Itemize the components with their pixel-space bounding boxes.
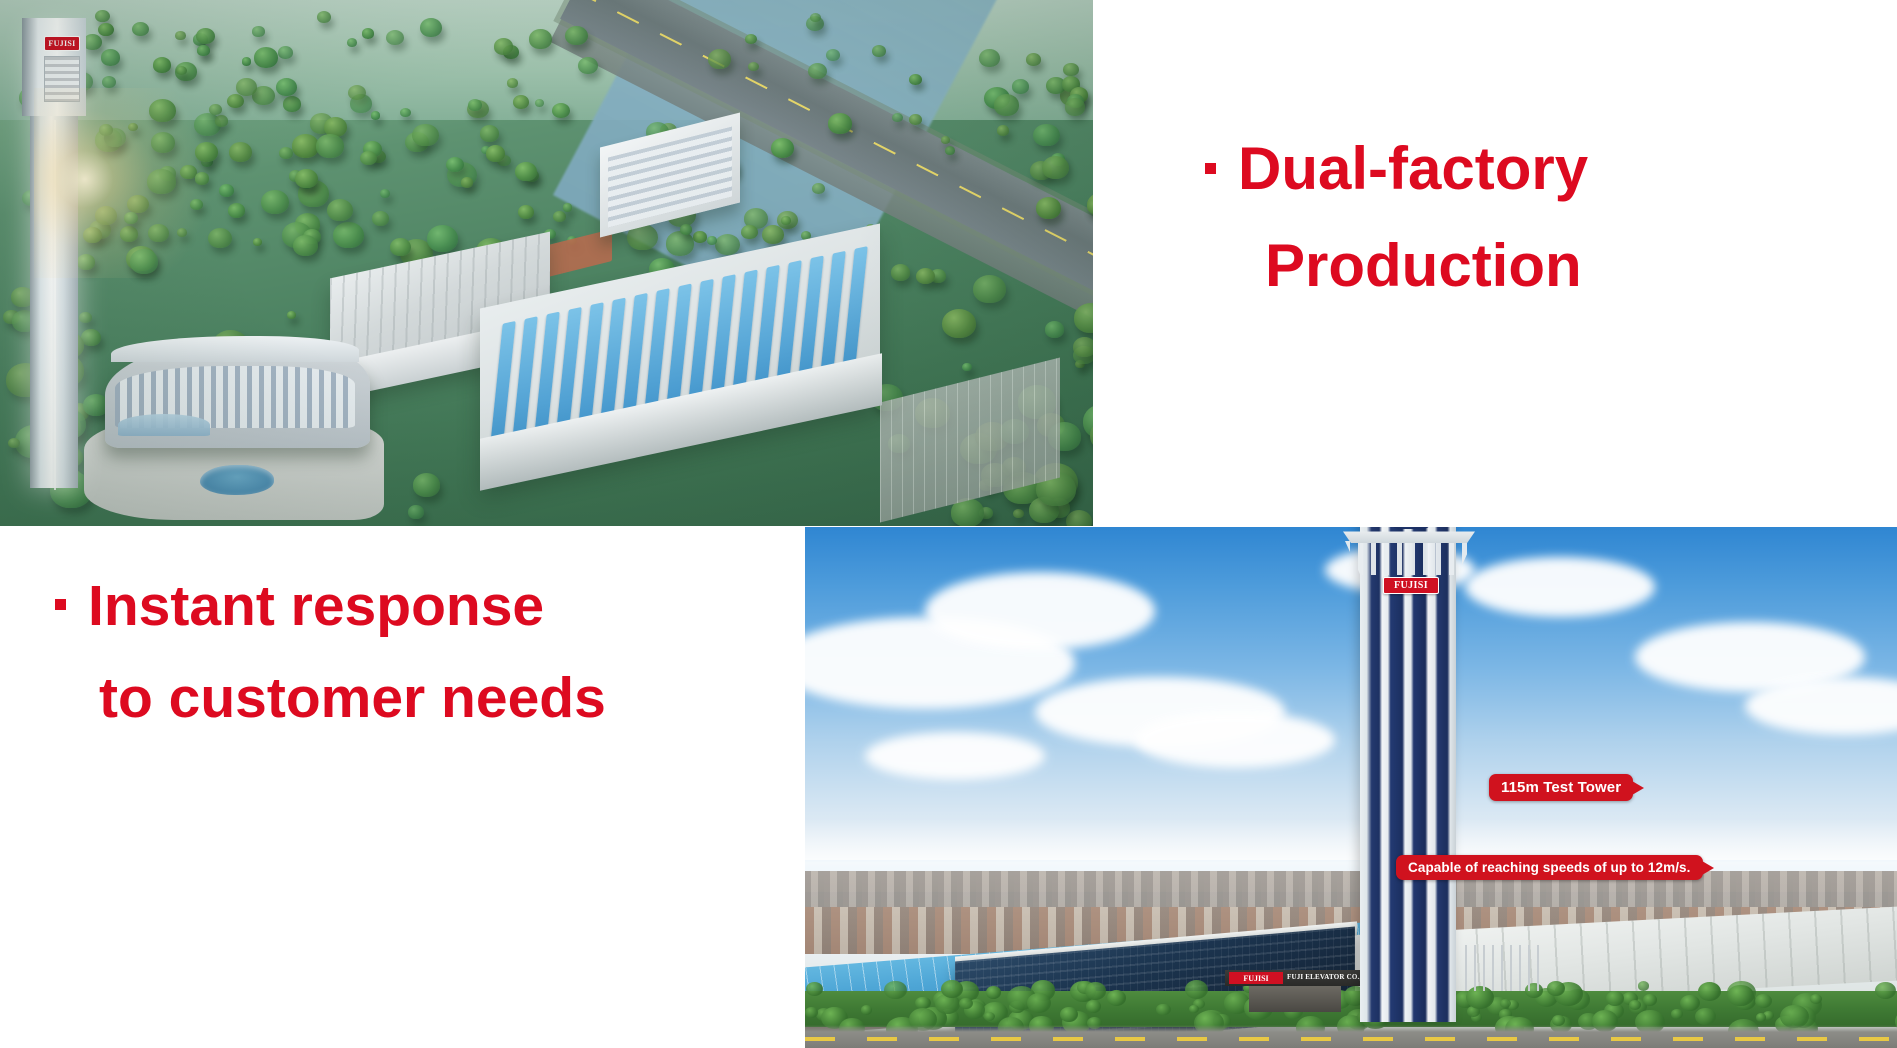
flagpole bbox=[1483, 945, 1485, 991]
tree bbox=[295, 169, 317, 188]
tree bbox=[941, 136, 950, 144]
tree bbox=[741, 225, 757, 239]
tree bbox=[149, 99, 176, 122]
tree bbox=[283, 96, 301, 112]
tree bbox=[317, 11, 331, 23]
flagpole bbox=[1474, 945, 1476, 991]
tree bbox=[861, 1005, 872, 1014]
tree bbox=[771, 138, 794, 158]
tree bbox=[565, 26, 587, 45]
tree bbox=[413, 473, 441, 497]
flagpole bbox=[1465, 945, 1467, 991]
tree bbox=[812, 183, 825, 194]
square-bullet-icon bbox=[55, 599, 66, 610]
tree bbox=[371, 111, 381, 120]
tree bbox=[101, 49, 120, 65]
tower-head-louvers bbox=[44, 56, 80, 102]
tree bbox=[177, 228, 187, 237]
tree bbox=[1810, 994, 1822, 1004]
tree bbox=[826, 49, 840, 61]
tree bbox=[316, 134, 343, 158]
tree bbox=[1156, 1004, 1170, 1016]
tree bbox=[228, 203, 245, 218]
tree bbox=[461, 177, 473, 187]
tree bbox=[486, 145, 505, 161]
tree bbox=[124, 212, 138, 224]
tree bbox=[984, 1012, 995, 1021]
tree bbox=[215, 115, 228, 127]
tree bbox=[99, 124, 113, 136]
tree bbox=[227, 94, 244, 109]
tree bbox=[680, 224, 693, 235]
tree bbox=[147, 169, 176, 194]
flagpole bbox=[1519, 945, 1521, 991]
tree bbox=[77, 254, 96, 270]
tree bbox=[102, 76, 116, 88]
tree bbox=[128, 123, 138, 131]
headline-line-2: Production bbox=[1205, 217, 1865, 314]
tree bbox=[1086, 1000, 1101, 1013]
tree bbox=[945, 146, 956, 155]
tree bbox=[190, 199, 203, 210]
tree bbox=[1073, 337, 1093, 357]
tree bbox=[209, 104, 222, 115]
tree bbox=[79, 312, 92, 323]
tree bbox=[83, 227, 102, 243]
tree bbox=[1074, 303, 1093, 332]
cloud bbox=[925, 572, 1155, 650]
tree bbox=[1755, 994, 1772, 1008]
tree bbox=[480, 125, 499, 142]
tree bbox=[781, 216, 791, 224]
tree bbox=[1189, 1005, 1199, 1013]
tree bbox=[208, 228, 232, 249]
tree bbox=[942, 309, 976, 338]
tree bbox=[578, 57, 598, 74]
fujisi-logo-gate: FUJISI bbox=[1229, 972, 1283, 984]
tree bbox=[808, 63, 827, 79]
tree bbox=[468, 99, 482, 111]
tree bbox=[372, 211, 390, 226]
tree bbox=[959, 998, 972, 1009]
tree bbox=[1727, 985, 1753, 1006]
tree bbox=[127, 195, 149, 213]
tree bbox=[1085, 982, 1106, 999]
tree bbox=[1680, 995, 1700, 1011]
tree bbox=[513, 95, 529, 109]
cloud bbox=[865, 732, 1045, 780]
tree bbox=[347, 38, 357, 47]
tree bbox=[1643, 994, 1657, 1006]
tree bbox=[1606, 991, 1625, 1006]
tree bbox=[1026, 53, 1041, 66]
tree bbox=[666, 231, 695, 256]
flagpole bbox=[1510, 945, 1512, 991]
tree bbox=[412, 124, 438, 146]
tree bbox=[98, 23, 114, 36]
headline-line-1: Instant response bbox=[88, 574, 544, 638]
flagpole bbox=[1537, 945, 1539, 991]
callout-speed-12ms: Capable of reaching speeds of up to 12m/… bbox=[1396, 855, 1703, 880]
tower-dome bbox=[1392, 527, 1430, 529]
tree bbox=[197, 45, 209, 56]
tree bbox=[81, 329, 101, 346]
tree bbox=[994, 94, 1019, 115]
tree bbox=[95, 206, 117, 225]
tree bbox=[1036, 197, 1061, 219]
tree bbox=[196, 28, 215, 44]
tree bbox=[518, 205, 534, 219]
tree bbox=[828, 113, 852, 134]
tree bbox=[892, 113, 903, 122]
tree bbox=[507, 78, 519, 88]
tree bbox=[386, 30, 404, 46]
tree bbox=[552, 103, 570, 118]
factory-rendering-image: FUJISI bbox=[0, 0, 1093, 526]
tree bbox=[408, 505, 424, 518]
tree bbox=[327, 199, 353, 222]
tree bbox=[1013, 509, 1024, 518]
tree bbox=[1033, 124, 1059, 147]
tree bbox=[563, 203, 573, 211]
tree bbox=[360, 151, 377, 166]
tree bbox=[872, 45, 886, 57]
tree bbox=[708, 49, 731, 69]
tree bbox=[333, 222, 363, 248]
tree bbox=[1500, 999, 1512, 1008]
tree bbox=[253, 238, 262, 246]
tree bbox=[1547, 981, 1565, 996]
tree bbox=[390, 238, 411, 256]
tree bbox=[287, 311, 296, 319]
tree bbox=[362, 28, 374, 38]
tree bbox=[810, 13, 821, 22]
tree bbox=[909, 114, 922, 125]
gate-security-booth bbox=[1249, 986, 1341, 1012]
tree bbox=[132, 22, 149, 37]
tree bbox=[1027, 993, 1052, 1013]
tree bbox=[261, 190, 289, 214]
tree bbox=[1629, 1000, 1641, 1010]
tree bbox=[1875, 982, 1896, 999]
tree bbox=[1695, 1008, 1716, 1025]
tree bbox=[909, 74, 922, 85]
flagpole bbox=[1501, 945, 1503, 991]
tree bbox=[400, 108, 411, 118]
tree bbox=[941, 980, 963, 998]
tree bbox=[252, 26, 264, 37]
tree bbox=[446, 157, 464, 173]
headquarters-photo: FUJISI FUJI ELEVATOR CO., LTD FUJISI bbox=[805, 527, 1897, 1048]
tree bbox=[884, 981, 907, 1000]
tree bbox=[1012, 79, 1030, 94]
office-entrance-canopy bbox=[118, 414, 210, 436]
tree bbox=[515, 162, 537, 181]
tree bbox=[916, 268, 935, 285]
tree bbox=[380, 189, 390, 198]
flagpole-row bbox=[1465, 945, 1545, 993]
tree bbox=[175, 31, 185, 40]
tree bbox=[748, 62, 759, 72]
tree bbox=[195, 142, 219, 162]
tree bbox=[153, 57, 172, 73]
headline-line-2: to customer needs bbox=[55, 652, 775, 744]
callout-115m-test-tower: 115m Test Tower bbox=[1489, 774, 1633, 801]
tree bbox=[494, 38, 514, 55]
tree bbox=[95, 10, 109, 22]
foreground-road bbox=[805, 1025, 1897, 1048]
tree bbox=[529, 29, 552, 48]
cloud bbox=[1135, 712, 1335, 768]
tree bbox=[1060, 1007, 1078, 1022]
tree bbox=[891, 264, 910, 281]
tree bbox=[120, 226, 138, 241]
tree bbox=[1638, 981, 1649, 990]
test-tower-structure bbox=[1360, 527, 1456, 1022]
tree bbox=[986, 986, 1001, 998]
tree bbox=[219, 184, 235, 197]
tree bbox=[292, 134, 319, 158]
tree bbox=[348, 85, 366, 100]
tree bbox=[278, 46, 294, 59]
tree bbox=[276, 78, 297, 96]
tree bbox=[151, 132, 175, 153]
tree bbox=[1063, 63, 1078, 76]
tree bbox=[745, 34, 757, 44]
slide-canvas: FUJISI Dual-factory Production Instant r… bbox=[0, 0, 1897, 1048]
tree bbox=[1107, 990, 1126, 1006]
tree bbox=[254, 47, 278, 68]
cloud bbox=[1465, 557, 1655, 617]
tree bbox=[1066, 510, 1092, 526]
tree bbox=[707, 236, 717, 244]
headline-instant-response: Instant response to customer needs bbox=[55, 560, 775, 745]
tree bbox=[1045, 321, 1064, 338]
tree bbox=[148, 224, 169, 242]
tree bbox=[8, 438, 20, 449]
tree bbox=[236, 78, 257, 96]
tree bbox=[806, 982, 823, 996]
tree bbox=[130, 249, 158, 273]
tree bbox=[535, 99, 544, 107]
tree bbox=[979, 49, 1001, 68]
tree bbox=[1671, 1009, 1683, 1019]
tree bbox=[1065, 98, 1086, 116]
tree bbox=[1042, 156, 1069, 179]
flagpole bbox=[1528, 945, 1530, 991]
flagpole bbox=[1492, 945, 1494, 991]
tree bbox=[427, 225, 458, 252]
fujisi-logo-sign-rendering: FUJISI bbox=[44, 36, 80, 51]
tree bbox=[1756, 1013, 1767, 1022]
headline-dual-factory: Dual-factory Production bbox=[1205, 120, 1865, 314]
square-bullet-icon bbox=[1205, 163, 1216, 174]
tree bbox=[762, 225, 784, 244]
tree bbox=[293, 235, 318, 256]
tree bbox=[715, 234, 740, 256]
tree bbox=[962, 363, 971, 371]
fujisi-logo-tower: FUJISI bbox=[1383, 577, 1439, 594]
tree bbox=[693, 231, 707, 243]
tree bbox=[997, 125, 1010, 136]
tree bbox=[1185, 980, 1208, 999]
tree bbox=[553, 211, 566, 222]
tree bbox=[279, 147, 293, 159]
tree bbox=[973, 275, 1006, 303]
tower-shaft-highlight bbox=[54, 120, 56, 490]
fountain-pool bbox=[200, 465, 274, 495]
headline-line-1: Dual-factory bbox=[1238, 135, 1588, 202]
tree bbox=[805, 1007, 818, 1018]
tree bbox=[420, 18, 442, 37]
tree bbox=[195, 172, 210, 185]
tower-arch-crown bbox=[1345, 541, 1473, 575]
tree bbox=[229, 142, 253, 162]
tree bbox=[242, 57, 251, 65]
